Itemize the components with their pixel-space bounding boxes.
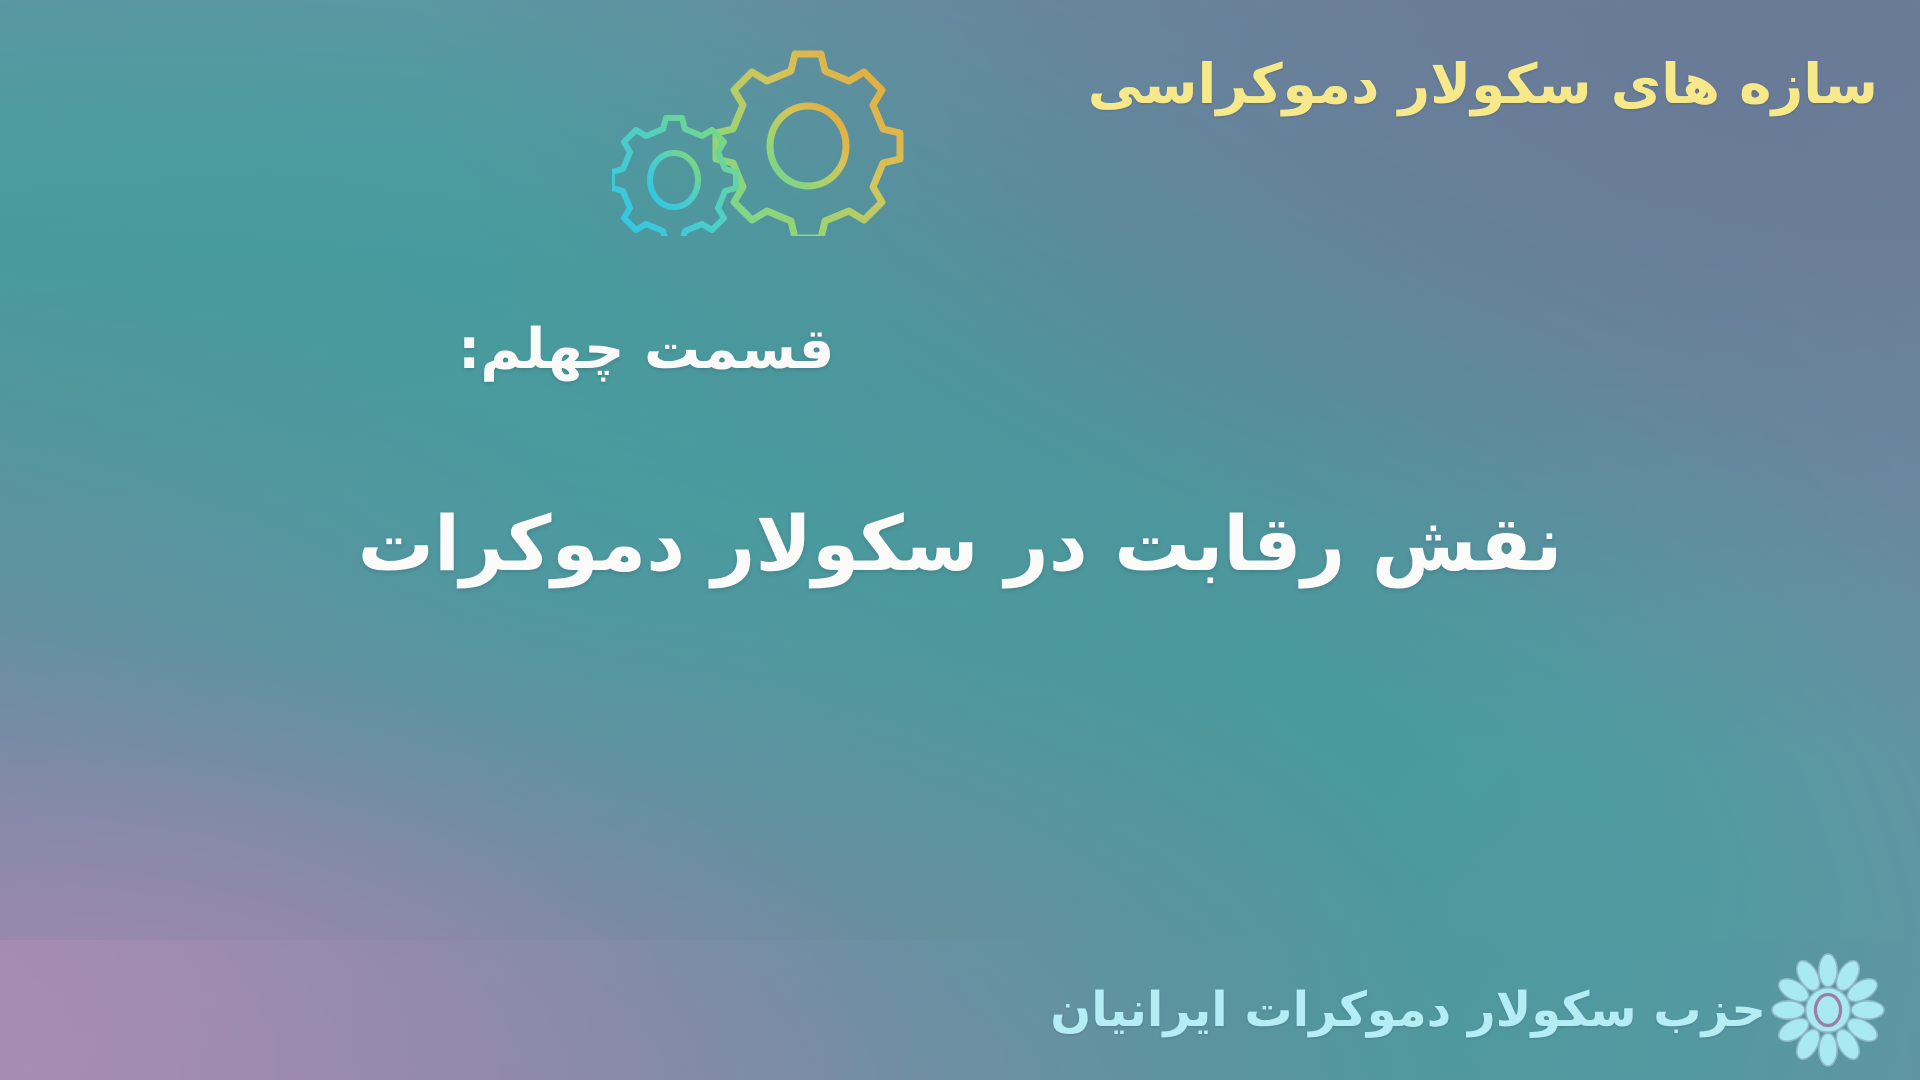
episode-subtitle: قسمت چهلم: bbox=[458, 316, 1878, 383]
episode-subtitle-text: قسمت چهلم: bbox=[458, 316, 834, 383]
footer-party-name: حزب سکولار دموکرات ایرانیان bbox=[1050, 982, 1766, 1038]
slide-canvas: سازه های سکولار دموکراسی قسمت چهلم: نقش … bbox=[0, 0, 1920, 1080]
daisy-flower-logo-icon bbox=[1770, 952, 1886, 1068]
footer-bar: حزب سکولار دموکرات ایرانیان bbox=[0, 940, 1920, 1080]
slide-title-row: سازه های سکولار دموکراسی bbox=[658, 56, 1878, 114]
slide-title: سازه های سکولار دموکراسی bbox=[1088, 56, 1878, 114]
slide-headline: نقش رقابت در سکولار دموکرات bbox=[0, 496, 1920, 591]
